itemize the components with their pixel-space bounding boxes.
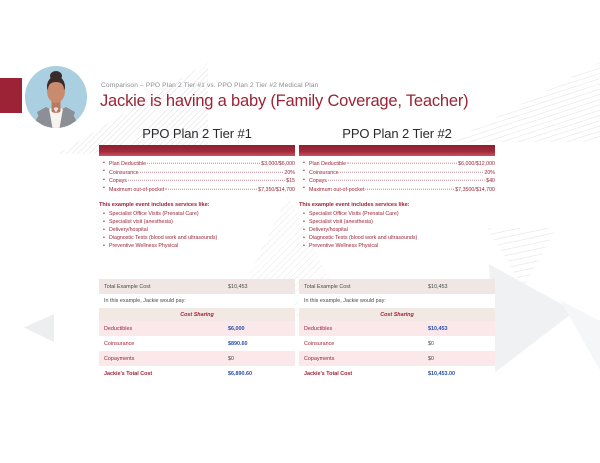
row-label: Coinsurance [304, 341, 428, 347]
row-value: $890.60 [228, 341, 290, 347]
row-label: Deductibles [104, 326, 228, 332]
dot-leader [340, 167, 484, 172]
hatch-pattern-right [487, 228, 557, 288]
row-value: $10,453 [428, 326, 490, 332]
detail-value: $15 [286, 178, 295, 186]
detail-label: Copays [309, 178, 327, 186]
table-row: Jackie's Total Cost $10,453.00 [299, 366, 495, 381]
detail-label: Copays [109, 178, 127, 186]
row-label: Copayments [104, 356, 228, 362]
row-value: $6,890.60 [228, 371, 290, 377]
list-item: Specialist Office Visits (Prenatal Care) [302, 210, 495, 218]
red-accent-square [0, 78, 22, 113]
dot-leader [328, 176, 485, 181]
list-item: Delivery/hospital [102, 226, 295, 234]
services-list-left: Specialist Office Visits (Prenatal Care)… [99, 210, 295, 250]
services-title-left: This example event includes services lik… [99, 202, 295, 208]
cost-table-left: Total Example Cost $10,453 In this examp… [99, 279, 295, 381]
dot-leader [347, 159, 457, 164]
plan-header-bar-left [99, 145, 295, 156]
table-row: Coinsurance $0 [299, 336, 495, 351]
table-row: Jackie's Total Cost $6,890.60 [99, 366, 295, 381]
dot-leader [365, 184, 454, 189]
table-note: In this example, Jackie would pay: [299, 294, 495, 308]
detail-label: Maximum out-of-pocket [109, 187, 164, 195]
table-note: In this example, Jackie would pay: [99, 294, 295, 308]
note-text: In this example, Jackie would pay: [104, 298, 290, 304]
triangle-decoration-left [24, 314, 54, 342]
detail-value: 20% [284, 170, 295, 178]
dot-leader [147, 159, 260, 164]
table-row: Copayments $0 [299, 351, 495, 366]
detail-value: 20% [484, 170, 495, 178]
detail-value: $7,350/$14,700 [258, 187, 295, 195]
detail-value: $7,3500/$14,700 [455, 187, 495, 195]
row-label: Coinsurance [104, 341, 228, 347]
dot-leader [165, 184, 257, 189]
triangle-decoration-far-right [560, 300, 600, 370]
table-row: Deductibles $10,453 [299, 321, 495, 336]
page-title: Jackie is having a baby (Family Coverage… [100, 92, 468, 111]
plan-details-list-left: Plan Deductible$3,000/$6,000 Coinsurance… [99, 160, 295, 194]
list-item: Maximum out-of-pocket$7,3500/$14,700 [302, 186, 495, 195]
list-item: Preventive Wellness Physical [102, 242, 295, 250]
list-item: Specialist visit (anesthesia) [302, 218, 495, 226]
plan-details-list-right: Plan Deductible$6,000/$12,000 Coinsuranc… [299, 160, 495, 194]
list-item: Specialist visit (anesthesia) [102, 218, 295, 226]
services-title-right: This example event includes services lik… [299, 202, 495, 208]
total-cost-label: Total Example Cost [104, 284, 228, 290]
dot-leader [128, 176, 285, 181]
row-value: $10,453.00 [428, 371, 490, 377]
list-item: Preventive Wellness Physical [302, 242, 495, 250]
total-cost-value: $10,453 [228, 284, 290, 290]
breadcrumb: Comparison – PPO Plan 2 Tier #1 vs. PPO … [101, 82, 319, 89]
triangle-decoration-right [489, 264, 581, 372]
table-row: Total Example Cost $10,453 [99, 279, 295, 294]
list-item: Delivery/hospital [302, 226, 495, 234]
plan-title-left: PPO Plan 2 Tier #1 [99, 126, 295, 141]
plan-header-bar-right [299, 145, 495, 156]
dot-leader [140, 167, 284, 172]
list-item: Diagnostic Tests (blood work and ultraso… [302, 234, 495, 242]
row-label: Jackie's Total Cost [104, 371, 228, 377]
avatar [25, 66, 87, 128]
cost-sharing-label: Cost Sharing [180, 312, 214, 318]
cost-sharing-label: Cost Sharing [380, 312, 414, 318]
plan-title-right: PPO Plan 2 Tier #2 [299, 126, 495, 141]
row-value: $0 [428, 356, 490, 362]
cost-sharing-header: Cost Sharing [299, 308, 495, 321]
plan-column-right: PPO Plan 2 Tier #2 Plan Deductible$6,000… [299, 126, 495, 250]
row-value: $6,000 [228, 326, 290, 332]
note-text: In this example, Jackie would pay: [304, 298, 490, 304]
table-row: Copayments $0 [99, 351, 295, 366]
list-item: Specialist Office Visits (Prenatal Care) [102, 210, 295, 218]
detail-value: $40 [486, 178, 495, 186]
row-label: Deductibles [304, 326, 428, 332]
total-cost-value: $10,453 [428, 284, 490, 290]
row-value: $0 [428, 341, 490, 347]
avatar-illustration-icon [25, 66, 87, 128]
services-list-right: Specialist Office Visits (Prenatal Care)… [299, 210, 495, 250]
cost-sharing-header: Cost Sharing [99, 308, 295, 321]
row-label: Jackie's Total Cost [304, 371, 428, 377]
list-item: Diagnostic Tests (blood work and ultraso… [102, 234, 295, 242]
plan-column-left: PPO Plan 2 Tier #1 Plan Deductible$3,000… [99, 126, 295, 250]
total-cost-label: Total Example Cost [304, 284, 428, 290]
row-label: Copayments [304, 356, 428, 362]
cost-table-right: Total Example Cost $10,453 In this examp… [299, 279, 495, 381]
row-value: $0 [228, 356, 290, 362]
list-item: Maximum out-of-pocket$7,350/$14,700 [102, 186, 295, 195]
detail-label: Maximum out-of-pocket [309, 187, 364, 195]
table-row: Coinsurance $890.60 [99, 336, 295, 351]
table-row: Deductibles $6,000 [99, 321, 295, 336]
table-row: Total Example Cost $10,453 [299, 279, 495, 294]
slide-canvas: Comparison – PPO Plan 2 Tier #1 vs. PPO … [0, 0, 600, 463]
